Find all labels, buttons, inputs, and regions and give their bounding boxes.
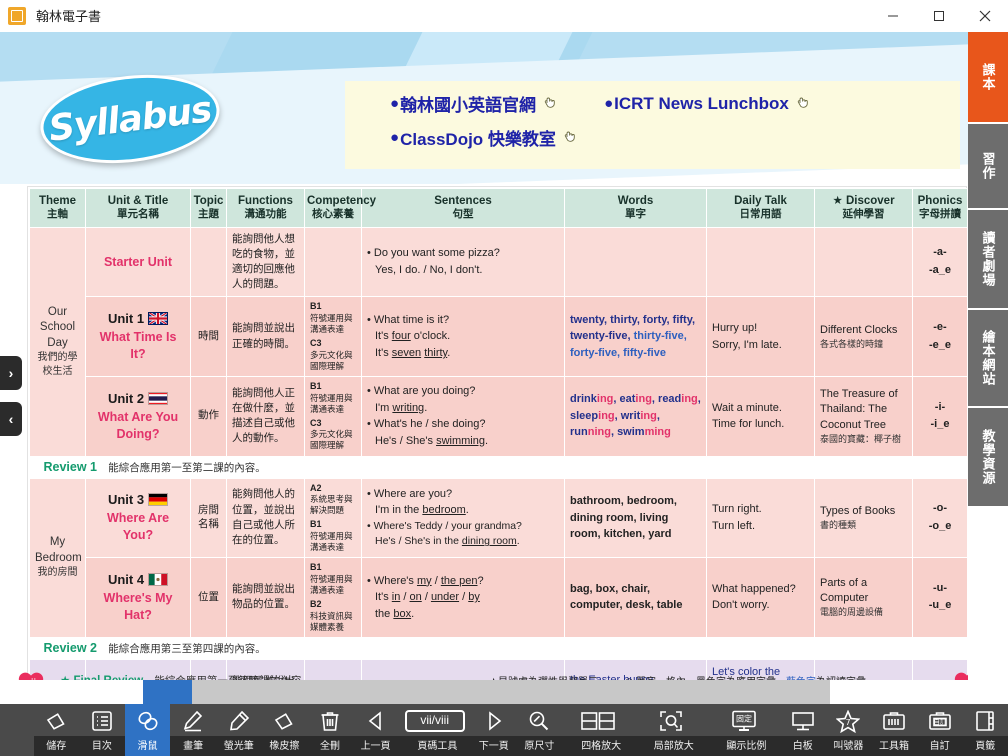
sentence-line: I'm writing. <box>367 400 559 417</box>
page-number-value[interactable]: vii/viii <box>405 710 465 731</box>
phonics-cell: -e- -e_e <box>913 297 968 377</box>
contents-list-icon <box>91 708 113 734</box>
next-page-icon <box>483 708 505 734</box>
flag-thailand-icon <box>148 392 168 405</box>
toolbar-bookmark-button[interactable]: 頁籤 <box>962 704 1008 756</box>
daily-talk-cell <box>707 227 815 297</box>
toolbar-display-ratio-button[interactable]: 固定 顯示比例 <box>707 704 780 756</box>
toolbar-save-button[interactable]: 儲存 <box>34 704 80 756</box>
theme-zh: 我們的學校生活 <box>35 351 80 378</box>
toolbar-label: 頁籤 <box>975 742 995 752</box>
unit-title: What Are You Doing? <box>91 409 185 443</box>
resource-link-box: ● 翰林國小英語官網 ● ICRT News Lunchbox ● ClassD… <box>345 81 960 169</box>
competency-cell: B1 符號運用與溝通表達 C3 多元文化與國際理解 <box>305 376 362 456</box>
toolbar-label: 目次 <box>92 742 112 752</box>
save-icon <box>44 708 68 734</box>
side-arrow-next[interactable]: › <box>0 356 22 390</box>
phonics-cell: -a- -a_e <box>913 227 968 297</box>
review-row-1: Review 1 能綜合應用第一至第二課的內容。 <box>30 456 968 478</box>
toolbar-label: 滑鼠 <box>138 742 158 752</box>
unit-number: Unit 2 <box>108 390 144 408</box>
toolbox-icon <box>882 708 906 734</box>
minimize-icon[interactable] <box>870 0 916 32</box>
theme-en: My Bedroom <box>35 536 82 564</box>
flag-uk-icon <box>148 312 168 325</box>
sentences-cell: • Do you want some pizza? Yes, I do. / N… <box>362 227 565 297</box>
eraser-icon <box>272 708 296 734</box>
whiteboard-icon <box>791 708 815 734</box>
toolbar-label: 叫號器 <box>833 742 863 752</box>
phonics-cell: -i- -i_e <box>913 376 968 456</box>
daily-talk-cell: Hurry up! Sorry, I'm late. <box>707 297 815 377</box>
unit-cell: Unit 2 What Are You Doing? <box>86 376 191 456</box>
theme-en: Our School Day <box>40 306 75 349</box>
toolbar-label: 橡皮擦 <box>269 742 299 752</box>
discover-cell <box>815 227 913 297</box>
sentence-line: • Where are you? <box>367 486 559 503</box>
sentence-line: I'm in the bedroom. <box>367 502 559 519</box>
toolbar-label: 自訂 <box>930 742 950 752</box>
page-roman-left: vii <box>18 677 44 680</box>
words-cell: twenty, thirty, forty, fifty, twenty-fiv… <box>565 297 707 377</box>
toolbar-label: 儲存 <box>46 742 66 752</box>
unit-cell: Starter Unit <box>86 227 191 297</box>
unit-title: Starter Unit <box>91 254 185 271</box>
toolbar-whiteboard-button[interactable]: 白板 <box>780 704 826 756</box>
maximize-icon[interactable] <box>916 0 962 32</box>
sentence-line: • Do you want some pizza? <box>367 245 559 262</box>
syllabus-badge-label: Syllabus <box>47 89 214 150</box>
phonics-cell: -u- -u_e <box>913 558 968 638</box>
table-row: Unit 4 Where's My Hat? 位置 能詢問並說出物品的位置。 B… <box>30 558 968 638</box>
previous-page-icon <box>365 708 387 734</box>
bottom-toolbar: 儲存 目次 滑鼠 畫筆 螢光筆 橡皮擦 全刪 <box>0 704 1008 756</box>
table-row: Unit 1 What Time Is It? 時間 能詢問並說出正確的時間。 … <box>30 297 968 377</box>
legend-note: ★星號處為彈性學習單元。 ※ 單字一格內，黑色字為應用字彙，藍色字為認讀字彙。 <box>489 673 876 681</box>
highlighter-icon <box>228 708 250 734</box>
topic-cell: 位置 <box>191 558 227 638</box>
col-theme: Theme主軸 <box>30 189 86 228</box>
words-cell: drinking, eating, reading, sleeping, wri… <box>565 376 707 456</box>
sentences-cell: • Where's my / the pen? It's in / on / u… <box>362 558 565 638</box>
unit-cell: Unit 4 Where's My Hat? <box>86 558 191 638</box>
link-hanlin-english-site[interactable]: ● 翰林國小英語官網 <box>390 91 560 116</box>
topic-cell: 動作 <box>191 376 227 456</box>
toolbar-toolbox-button[interactable]: 工具箱 <box>871 704 917 756</box>
theme-cell-my-bedroom: My Bedroom 我的房間 <box>30 478 86 637</box>
heart-icon: v <box>954 673 968 680</box>
link-icrt-news-lunchbox[interactable]: ● ICRT News Lunchbox <box>604 91 813 116</box>
right-tab-teaching-resources[interactable]: 教學資源 <box>968 408 1008 508</box>
toolbar-previous-page-button[interactable]: 上一頁 <box>353 704 399 756</box>
toolbar-mouse-button[interactable]: 滑鼠 <box>125 704 171 756</box>
competency-cell <box>305 227 362 297</box>
link-label: ClassDojo 快樂教室 <box>400 125 556 150</box>
functions-cell: 能詢問並說出正確的時間。 <box>227 297 305 377</box>
col-topic: Topic主題 <box>191 189 227 228</box>
theme-zh: 我的房間 <box>35 566 80 580</box>
topic-cell: 時間 <box>191 297 227 377</box>
window-controls <box>870 0 1008 32</box>
right-tab-readers-theater[interactable]: 讀者劇場 <box>968 210 1008 310</box>
daily-talk-cell: Turn right. Turn left. <box>707 478 815 558</box>
functions-cell: 能詢問他人想吃的食物，並適切的回應他人的問題。 <box>227 227 305 297</box>
table-row: My Bedroom 我的房間 Unit 3 Where Are You? 房間… <box>30 478 968 558</box>
right-tab-strip: 課本 習作 讀者劇場 繪本網站 教學資源 <box>968 32 1008 680</box>
page-footnotes: ★ Final Review 能綜合應用第一至第四課的內容。 ★星號處為彈性學習… <box>28 670 966 680</box>
unit-number: Unit 3 <box>108 491 144 509</box>
review-label: Review 2 <box>44 641 98 655</box>
sentence-line: • Where's Teddy / your grandma? <box>367 519 559 535</box>
sentence-line: He's / She's in the dining room. <box>367 534 559 550</box>
mouse-icon <box>136 708 160 734</box>
phonics-cell: -o- -o_e <box>913 478 968 558</box>
link-label: ICRT News Lunchbox <box>614 94 789 114</box>
unit-title: Where's My Hat? <box>91 590 185 624</box>
toolbar-quad-zoom-button[interactable]: 四格放大 <box>562 704 635 756</box>
hand-pointer-icon <box>796 94 813 114</box>
competency-cell: B1 符號運用與溝通表達 B2 科技資訊與媒體素養 <box>305 558 362 638</box>
syllabus-table: Theme主軸 Unit & Title單元名稱 Topic主題 Functio… <box>28 187 966 680</box>
unit-cell: Unit 1 What Time Is It? <box>86 297 191 377</box>
toolbar-label: 原尺寸 <box>524 742 554 752</box>
svg-text:固定: 固定 <box>736 714 752 724</box>
sentence-line: • What time is it? <box>367 312 559 329</box>
table-row: Unit 2 What Are You Doing? 動作 能詢問他人正在做什麼… <box>30 376 968 456</box>
flag-mexico-icon <box>148 573 168 586</box>
bookmark-icon <box>974 708 996 734</box>
right-tab-textbook[interactable]: 課本 <box>968 32 1008 124</box>
col-competency: Competency核心素養 <box>305 189 362 228</box>
book-page: Syllabus ● 翰林國小英語官網 ● ICRT News Lunchbox… <box>0 32 968 680</box>
toolbar-contents-button[interactable]: 目次 <box>79 704 125 756</box>
discover-cell: Parts of a Computer 電腦的周邊設備 <box>815 558 913 638</box>
topic-cell: 房間名稱 <box>191 478 227 558</box>
svg-text:7: 7 <box>846 718 851 727</box>
review-desc: 能綜合應用第三至第四課的內容。 <box>108 643 266 655</box>
link-label: 翰林國小英語官網 <box>400 91 536 116</box>
pen-icon <box>182 708 204 734</box>
col-sentences: Sentences句型 <box>362 189 565 228</box>
toolbar-label: 下一頁 <box>479 742 509 752</box>
toolbar-label: 局部放大 <box>654 742 694 752</box>
competency-cell: A2 系統思考與解決問題 B1 符號運用與溝通表達 <box>305 478 362 558</box>
svg-text:自訂: 自訂 <box>933 717 947 726</box>
sentence-line: • Where's my / the pen? <box>367 573 559 590</box>
review-label: Review 1 <box>44 460 98 474</box>
toolbar-custom-button[interactable]: 自訂 自訂 <box>917 704 963 756</box>
functions-cell: 能詢問他人正在做什麼，並描述自己或他人的動作。 <box>227 376 305 456</box>
display-ratio-icon: 固定 <box>731 708 757 734</box>
toolbar-clear-all-button[interactable]: 全刪 <box>307 704 353 756</box>
sentence-line: It's four o'clock. <box>367 328 559 345</box>
page-number-left: vii seven <box>18 673 46 680</box>
theme-cell-our-school-day: Our School Day 我們的學校生活 <box>30 227 86 456</box>
hand-pointer-icon <box>563 128 580 148</box>
daily-talk-cell: Wait a minute. Time for lunch. <box>707 376 815 456</box>
words-cell: bag, box, chair, computer, desk, table <box>565 558 707 638</box>
toolbar-highlighter-button[interactable]: 螢光筆 <box>216 704 262 756</box>
table-row: Our School Day 我們的學校生活 Starter Unit 能詢問他… <box>30 227 968 297</box>
table-header-row: Theme主軸 Unit & Title單元名稱 Topic主題 Functio… <box>30 189 968 228</box>
toolbar-label: 工具箱 <box>879 742 909 752</box>
unit-number: Unit 4 <box>108 571 144 589</box>
functions-cell: 能夠問他人的位置，並說出自己或他人所在的位置。 <box>227 478 305 558</box>
region-zoom-icon <box>659 708 683 734</box>
col-functions: Functions溝通功能 <box>227 189 305 228</box>
toolbar-label: 螢光筆 <box>224 742 254 752</box>
app-book-icon <box>8 7 26 25</box>
hand-pointer-icon <box>543 94 560 114</box>
col-words: Words單字 <box>565 189 707 228</box>
side-arrow-prev[interactable]: ‹ <box>0 402 22 436</box>
col-unit-title: Unit & Title單元名稱 <box>86 189 191 228</box>
unit-cell: Unit 3 Where Are You? <box>86 478 191 558</box>
page-roman-right: v <box>954 677 968 680</box>
trash-icon <box>320 708 340 734</box>
review-desc: 能綜合應用第一至第二課的內容。 <box>108 462 266 474</box>
toolbar-eraser-button[interactable]: 橡皮擦 <box>262 704 308 756</box>
toolbar-label: 上一頁 <box>361 742 391 752</box>
sentence-line: It's seven thirty. <box>367 345 559 362</box>
discover-cell: Types of Books 書的種類 <box>815 478 913 558</box>
final-review-note: ★ Final Review 能綜合應用第一至第四課的內容。 <box>60 673 312 681</box>
page-number-box[interactable]: vii/viii <box>405 708 465 734</box>
link-classdojo[interactable]: ● ClassDojo 快樂教室 <box>390 125 580 150</box>
discover-cell: Different Clocks 各式各樣的時鐘 <box>815 297 913 377</box>
competency-cell: B1 符號運用與溝通表達 C3 多元文化與國際理解 <box>305 297 362 377</box>
quad-zoom-icon <box>581 708 615 734</box>
toolbar-label: 畫筆 <box>183 742 203 752</box>
sentences-cell: • Where are you? I'm in the bedroom. • W… <box>362 478 565 558</box>
toolbar-label: 顯示比例 <box>726 742 766 752</box>
heart-icon: vii <box>18 673 44 680</box>
sentence-line: He's / She's swimming. <box>367 433 559 450</box>
toolbar-number-caller-button[interactable]: 7 叫號器 <box>826 704 872 756</box>
bullet-icon: ● <box>390 95 399 112</box>
sentences-cell: • What time is it? It's four o'clock. It… <box>362 297 565 377</box>
custom-icon: 自訂 <box>928 708 952 734</box>
toolbar-label: 頁碼工具 <box>417 742 457 752</box>
bullet-icon: ● <box>604 95 613 112</box>
toolbar-top-strip <box>0 680 1008 704</box>
flag-germany-icon <box>148 493 168 506</box>
toolbar-label: 白板 <box>793 742 813 752</box>
functions-cell: 能詢問並說出物品的位置。 <box>227 558 305 638</box>
daily-talk-cell: What happened? Don't worry. <box>707 558 815 638</box>
review-row-2: Review 2 能綜合應用第三至第四課的內容。 <box>30 637 968 659</box>
sentences-cell: • What are you doing? I'm writing. • Wha… <box>362 376 565 456</box>
star-number-icon: 7 <box>836 708 860 734</box>
window-title: 翰林電子書 <box>36 6 101 25</box>
sentence-line: • What's he / she doing? <box>367 416 559 433</box>
unit-title: What Time Is It? <box>91 329 185 363</box>
sentence-line: the box. <box>367 606 559 623</box>
actual-size-icon <box>528 708 550 734</box>
col-discover: ★ Discover延伸學習 <box>815 189 913 228</box>
right-tab-workbook[interactable]: 習作 <box>968 124 1008 210</box>
discover-cell: The Treasure of Thailand: The Coconut Tr… <box>815 376 913 456</box>
unit-title: Where Are You? <box>91 510 185 544</box>
window-titlebar: 翰林電子書 <box>0 0 1008 32</box>
sentence-line: Yes, I do. / No, I don't. <box>367 262 559 279</box>
sentence-line: • What are you doing? <box>367 383 559 400</box>
toolbar-label: 四格放大 <box>581 742 621 752</box>
bullet-icon: ● <box>390 129 399 146</box>
toolbar-region-zoom-button[interactable]: 局部放大 <box>635 704 708 756</box>
words-cell: bathroom, bedroom, dining room, living r… <box>565 478 707 558</box>
col-daily-talk: Daily Talk日常用語 <box>707 189 815 228</box>
words-cell <box>565 227 707 297</box>
toolbar-pen-button[interactable]: 畫筆 <box>170 704 216 756</box>
toolbar-label: 全刪 <box>320 742 340 752</box>
unit-number: Unit 1 <box>108 310 144 328</box>
close-icon[interactable] <box>962 0 1008 32</box>
page-number-right: v eight <box>954 673 968 680</box>
toolbar-next-page-button[interactable]: 下一頁 <box>471 704 517 756</box>
toolbar-actual-size-button[interactable]: 原尺寸 <box>517 704 563 756</box>
right-tab-picturebook-site[interactable]: 繪本網站 <box>968 310 1008 408</box>
toolbar-page-number-tool[interactable]: vii/viii 頁碼工具 <box>398 704 471 756</box>
sentence-line: It's in / on / under / by <box>367 589 559 606</box>
topic-cell <box>191 227 227 297</box>
col-phonics: Phonics字母拼讀 <box>913 189 968 228</box>
